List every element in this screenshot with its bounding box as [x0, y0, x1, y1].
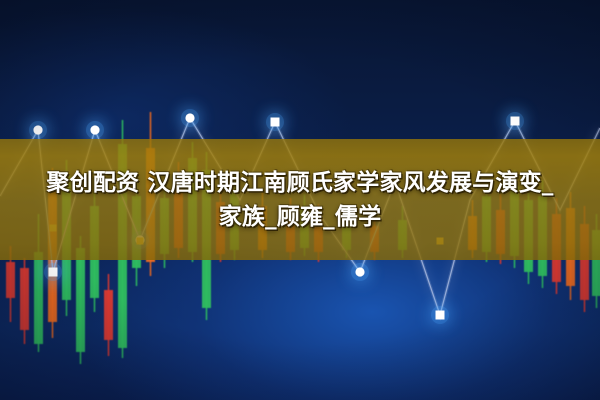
title-block: 聚创配资 汉唐时期江南顾氏家学家风发展与演变_ 家族_顾雍_儒学 — [0, 139, 600, 260]
banner-image: 聚创配资 汉唐时期江南顾氏家学家风发展与演变_ 家族_顾雍_儒学 — [0, 0, 600, 400]
title-line-1: 聚创配资 汉唐时期江南顾氏家学家风发展与演变_ — [46, 166, 553, 200]
title-line-2: 家族_顾雍_儒学 — [219, 200, 382, 234]
